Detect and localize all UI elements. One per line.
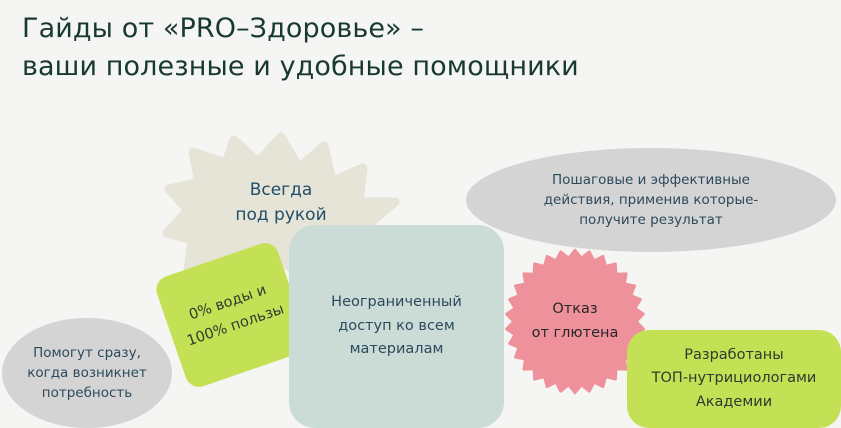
page-title: Гайды от «PRO–Здоровье» – ваши полезные … [22, 10, 722, 87]
benefit-ellipse-right-label: Пошаговые и эффективные действия, примен… [466, 148, 836, 252]
benefit-pink-gear-label: Отказ от глютена [505, 249, 645, 394]
benefit-ellipse-right: Пошаговые и эффективные действия, примен… [466, 148, 836, 252]
benefit-pink-gear-gluten-free: Отказ от глютена [505, 249, 645, 394]
benefit-green-card-label: Разработаны ТОП-нутрициологами Академии [627, 330, 841, 428]
benefit-green-rotated-card: 0% воды и 100% пользы [158, 255, 306, 375]
benefit-teal-card-label: Неограниченный доступ ко всем материалам [289, 225, 504, 428]
benefit-ellipse-left-label: Помогут сразу, когда возникнет потребнос… [2, 318, 172, 428]
benefit-teal-card-unlimited-access: Неограниченный доступ ко всем материалам [289, 225, 504, 428]
benefit-ellipse-left: Помогут сразу, когда возникнет потребнос… [2, 318, 172, 428]
benefit-green-card-developed-by: Разработаны ТОП-нутрициологами Академии [627, 330, 841, 428]
slide-canvas: Гайды от «PRO–Здоровье» – ваши полезные … [0, 0, 841, 428]
